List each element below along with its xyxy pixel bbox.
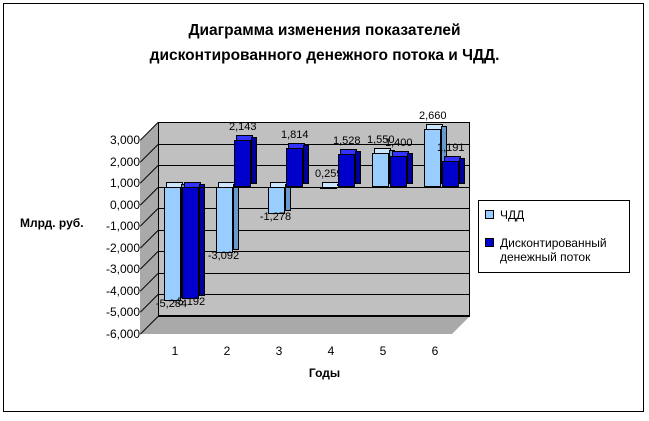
bar[interactable] <box>442 161 459 187</box>
bar-side <box>355 151 361 184</box>
bar[interactable] <box>424 129 441 186</box>
bar-data-label: 2,660 <box>419 110 447 122</box>
x-axis-tick-label: 3 <box>264 344 294 358</box>
bar-data-label: 1,814 <box>281 129 309 141</box>
chart-frame: Диаграмма изменения показателей дисконти… <box>3 3 644 412</box>
plot-area: -5,284-5,192-3,0922,143-1,2781,8140,2591… <box>140 122 470 334</box>
y-axis-tick-label: 2,000 <box>88 155 140 169</box>
y-axis-tick-label: -5,000 <box>88 305 140 319</box>
bar-face <box>182 187 199 299</box>
legend-swatch-icon <box>485 238 494 247</box>
bar-face <box>442 161 459 187</box>
x-axis-tick-label: 4 <box>316 344 346 358</box>
bar-data-label: -3,092 <box>208 250 239 262</box>
bar[interactable] <box>182 187 199 299</box>
bar-face <box>234 140 251 186</box>
x-axis-tick-label: 5 <box>368 344 398 358</box>
bar-data-label: 1,191 <box>437 142 465 154</box>
bar-face <box>338 154 355 187</box>
bar-side <box>303 145 309 184</box>
bar[interactable] <box>390 156 407 186</box>
y-axis-title: Млрд. руб. <box>20 216 84 230</box>
bar-face <box>372 153 389 186</box>
x-axis-tick-label: 2 <box>212 344 242 358</box>
bar-face <box>268 187 285 215</box>
bar-face <box>164 187 181 301</box>
bar-side <box>251 137 257 183</box>
y-axis-tick-label: 0,000 <box>88 198 140 212</box>
bar-side <box>199 184 205 296</box>
y-axis-tick-label: 1,000 <box>88 176 140 190</box>
bar[interactable] <box>216 187 233 254</box>
y-axis-tick-label: -3,000 <box>88 262 140 276</box>
bar-side <box>233 184 239 251</box>
legend-swatch-icon <box>485 210 494 219</box>
x-axis-tick-label: 6 <box>420 344 450 358</box>
bar-face <box>390 156 407 186</box>
bar-side <box>285 184 291 212</box>
chart-legend: ЧДД Дисконтированный денежный поток <box>478 200 630 273</box>
y-axis-tick-label: -4,000 <box>88 284 140 298</box>
bar[interactable] <box>372 153 389 186</box>
bar-face <box>424 129 441 186</box>
zero-axis-line <box>158 187 470 188</box>
bar[interactable] <box>286 148 303 187</box>
legend-item[interactable]: Дисконтированный денежный поток <box>485 236 623 264</box>
y-axis-tick-labels: 3,0002,0001,0000,000-1,000-2,000-3,000-4… <box>84 4 140 421</box>
legend-item[interactable]: ЧДД <box>485 208 623 222</box>
bar-side <box>459 158 465 184</box>
x-axis-tick-label: 1 <box>160 344 190 358</box>
plot-floor <box>140 316 470 334</box>
y-axis-tick-label: -1,000 <box>88 219 140 233</box>
bar-data-label: 1,528 <box>333 135 361 147</box>
bar[interactable] <box>268 187 285 215</box>
y-axis-tick-label: 3,000 <box>88 133 140 147</box>
legend-item-label: ЧДД <box>500 208 524 222</box>
bar-face <box>286 148 303 187</box>
y-axis-tick-label: -6,000 <box>88 327 140 341</box>
bar-data-label: -1,278 <box>260 211 291 223</box>
bar-data-label: 1,400 <box>385 137 413 149</box>
grid-line <box>158 316 470 317</box>
legend-item-label: Дисконтированный денежный поток <box>500 236 623 264</box>
bar-face <box>216 187 233 254</box>
bar[interactable] <box>338 154 355 187</box>
y-axis-tick-label: -2,000 <box>88 241 140 255</box>
chart-title-line-1: Диаграмма изменения показателей <box>188 22 460 39</box>
bar[interactable] <box>234 140 251 186</box>
bar-side <box>407 153 413 183</box>
x-axis-title: Годы <box>4 366 645 380</box>
bar-data-label: -5,192 <box>174 296 205 308</box>
bar-data-label: 2,143 <box>229 121 257 133</box>
bar[interactable] <box>164 187 181 301</box>
